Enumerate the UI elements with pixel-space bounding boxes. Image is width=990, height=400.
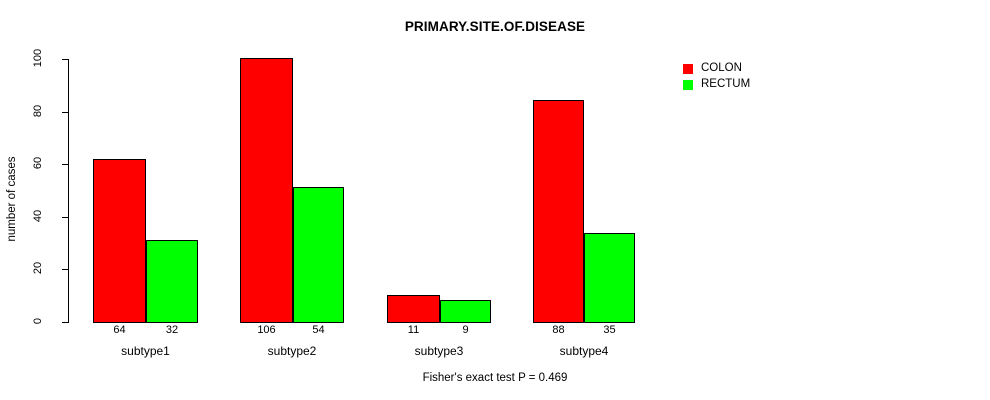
y-tick-label-100-wrap: 100 <box>18 52 58 66</box>
count-label-subtype4-colon: 88 <box>533 324 584 336</box>
bar-chart-figure: PRIMARY.SITE.OF.DISEASE 0 20 40 60 80 10… <box>0 0 990 400</box>
group-label-subtype2: subtype2 <box>240 344 344 358</box>
count-label-subtype1-rectum: 32 <box>146 324 198 336</box>
footer-caption: Fisher's exact test P = 0.469 <box>0 372 990 384</box>
count-label-subtype3-colon: 11 <box>387 324 440 336</box>
y-tick-label-0-wrap: 0 <box>18 315 58 329</box>
legend-swatch-colon-icon <box>683 64 693 74</box>
bar-subtype3-colon[interactable] <box>387 295 440 323</box>
y-tick-label-40: 40 <box>32 196 44 236</box>
bar-subtype4-rectum[interactable] <box>584 233 635 323</box>
legend-swatch-rectum-icon <box>683 80 693 90</box>
chart-title: PRIMARY.SITE.OF.DISEASE <box>0 19 990 34</box>
y-tick-label-20: 20 <box>32 248 44 288</box>
y-axis-line <box>68 59 69 323</box>
y-tick-label-0: 0 <box>32 301 44 341</box>
y-tick-label-20-wrap: 20 <box>18 262 58 276</box>
legend-label-colon: COLON <box>701 62 742 74</box>
group-label-subtype4: subtype4 <box>533 344 635 358</box>
y-axis-title: number of cases <box>6 134 18 264</box>
count-label-subtype4-rectum: 35 <box>584 324 635 336</box>
bar-subtype4-colon[interactable] <box>533 100 584 323</box>
group-label-subtype1: subtype1 <box>93 344 198 358</box>
bar-subtype3-rectum[interactable] <box>440 300 491 323</box>
y-tick-80 <box>62 112 68 113</box>
y-tick-100 <box>62 59 68 60</box>
y-tick-label-100: 100 <box>32 38 44 78</box>
count-label-subtype3-rectum: 9 <box>440 324 491 336</box>
y-tick-label-80-wrap: 80 <box>18 105 58 119</box>
bar-subtype2-colon[interactable] <box>240 58 293 323</box>
legend-label-rectum: RECTUM <box>701 78 750 90</box>
bar-subtype1-rectum[interactable] <box>146 240 198 323</box>
y-tick-60 <box>62 164 68 165</box>
count-label-subtype2-colon: 106 <box>240 324 293 336</box>
bar-subtype2-rectum[interactable] <box>293 187 344 323</box>
y-tick-label-60-wrap: 60 <box>18 157 58 171</box>
bar-subtype1-colon[interactable] <box>93 159 146 323</box>
count-label-subtype2-rectum: 54 <box>293 324 344 336</box>
y-tick-0 <box>62 322 68 323</box>
y-tick-40 <box>62 217 68 218</box>
y-tick-20 <box>62 269 68 270</box>
y-tick-label-60: 60 <box>32 143 44 183</box>
count-label-subtype1-colon: 64 <box>93 324 146 336</box>
y-tick-label-80: 80 <box>32 91 44 131</box>
y-tick-label-40-wrap: 40 <box>18 210 58 224</box>
group-label-subtype3: subtype3 <box>387 344 491 358</box>
